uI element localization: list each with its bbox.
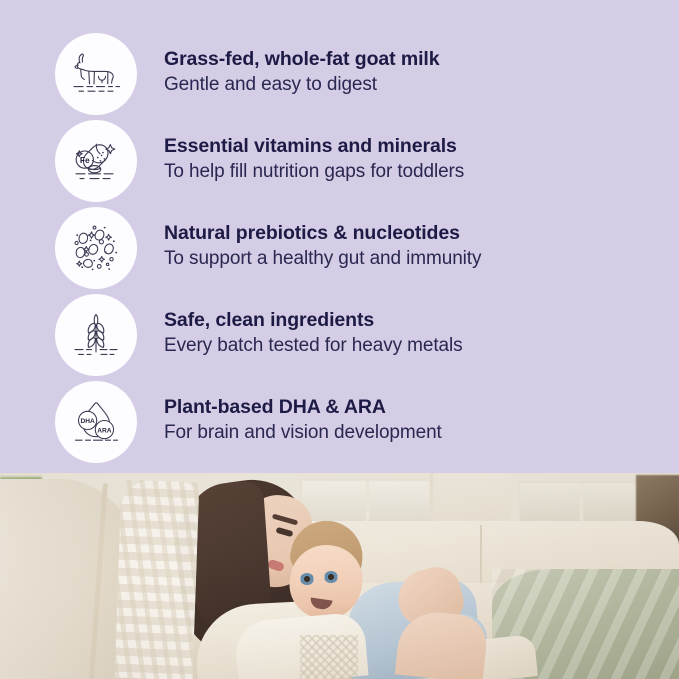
benefit-subtitle: Gentle and easy to digest bbox=[164, 73, 679, 98]
benefit-subtitle: Every batch tested for heavy metals bbox=[164, 334, 679, 359]
benefit-subtitle: For brain and vision development bbox=[164, 421, 679, 446]
benefit-text: Essential vitamins and minerals To help … bbox=[164, 134, 679, 187]
benefit-row: DHA ARA Plant-based DHA & ARA For brain … bbox=[0, 378, 679, 465]
goat-icon bbox=[55, 33, 137, 115]
benefit-subtitle: To support a healthy gut and immunity bbox=[164, 247, 679, 272]
vitamin-capsule-iron-icon: Fe bbox=[55, 120, 137, 202]
benefit-text: Plant-based DHA & ARA For brain and visi… bbox=[164, 395, 679, 448]
svg-text:Fe: Fe bbox=[80, 155, 90, 165]
dha-ara-droplet-icon: DHA ARA bbox=[55, 381, 137, 463]
ara-label: ARA bbox=[97, 427, 112, 434]
baby-eye-right bbox=[324, 571, 338, 583]
baby-eye-left bbox=[300, 573, 314, 585]
benefit-subtitle: To help fill nutrition gaps for toddlers bbox=[164, 160, 679, 185]
photo-scene bbox=[0, 473, 679, 679]
benefit-title: Plant-based DHA & ARA bbox=[164, 395, 679, 420]
lifestyle-photo bbox=[0, 473, 679, 679]
mother-lace-detail bbox=[300, 635, 358, 679]
benefit-title: Grass-fed, whole-fat goat milk bbox=[164, 47, 679, 72]
product-feature-panel: Grass-fed, whole-fat goat milk Gentle an… bbox=[0, 0, 679, 679]
benefit-text: Safe, clean ingredients Every batch test… bbox=[164, 308, 679, 361]
benefit-row: Safe, clean ingredients Every batch test… bbox=[0, 291, 679, 378]
benefits-list: Grass-fed, whole-fat goat milk Gentle an… bbox=[0, 0, 679, 473]
benefit-text: Natural prebiotics & nucleotides To supp… bbox=[164, 221, 679, 274]
probiotic-bacteria-icon bbox=[55, 207, 137, 289]
benefit-row: Natural prebiotics & nucleotides To supp… bbox=[0, 204, 679, 291]
benefit-row: Fe Essential vitamins and minerals To he… bbox=[0, 117, 679, 204]
benefit-text: Grass-fed, whole-fat goat milk Gentle an… bbox=[164, 47, 679, 100]
dha-label: DHA bbox=[80, 418, 95, 425]
benefit-title: Natural prebiotics & nucleotides bbox=[164, 221, 679, 246]
benefit-title: Essential vitamins and minerals bbox=[164, 134, 679, 159]
benefit-title: Safe, clean ingredients bbox=[164, 308, 679, 333]
wheat-stalk-icon bbox=[55, 294, 137, 376]
benefit-row: Grass-fed, whole-fat goat milk Gentle an… bbox=[0, 30, 679, 117]
knit-throw-blanket bbox=[115, 480, 200, 679]
